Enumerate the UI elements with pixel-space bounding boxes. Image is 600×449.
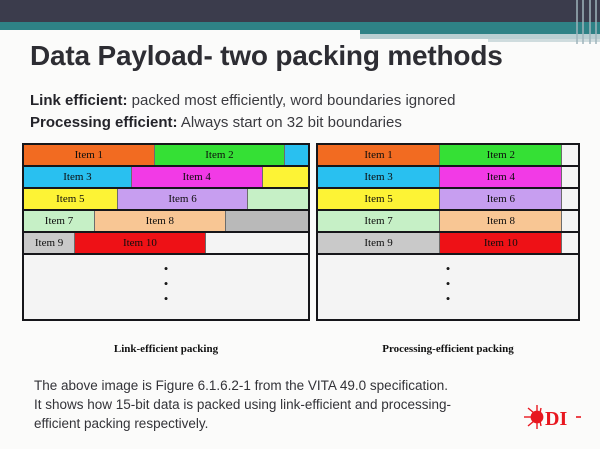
packing-row: Item 5Item 6	[24, 189, 308, 211]
packing-continuation-area: •••	[24, 255, 308, 311]
packing-cell-item-9: Item 9	[318, 233, 440, 253]
vertical-ellipsis: •••	[24, 261, 308, 306]
banner-teal-accent	[360, 26, 600, 34]
di-logo-text: DI	[545, 408, 567, 430]
packing-cell-empty	[263, 167, 308, 187]
packing-cell-item-10: Item 10	[440, 233, 562, 253]
packing-cell-item-7: Item 7	[318, 211, 440, 231]
bullet-link-efficient-text: packed most efficiently, word boundaries…	[128, 92, 456, 109]
packing-cell-item-10: Item 10	[75, 233, 206, 253]
caption-processing-efficient: Processing-efficient packing	[316, 343, 580, 355]
packing-cell-item-8: Item 8	[440, 211, 562, 231]
packing-cell-item-1: Item 1	[24, 145, 155, 165]
note-line-1: The above image is Figure 6.1.6.2-1 from…	[34, 376, 504, 395]
packing-row: Item 3Item 4	[24, 167, 308, 189]
packing-cell-empty	[226, 211, 308, 231]
bullet-processing-efficient-label: Processing efficient:	[30, 114, 178, 131]
packing-cell-item-8: Item 8	[95, 211, 226, 231]
banner-stripe-4	[595, 0, 597, 44]
packing-cell-empty	[562, 167, 578, 187]
packing-cell-item-3: Item 3	[318, 167, 440, 187]
packing-row: Item 5Item 6	[318, 189, 578, 211]
note-line-3: efficient packing respectively.	[34, 414, 504, 433]
slide-title: Data Payload- two packing methods	[30, 40, 570, 72]
packing-cell-item-7: Item 7	[24, 211, 95, 231]
banner-stripe-2	[582, 0, 584, 44]
packing-cell-item-5: Item 5	[318, 189, 440, 209]
caption-link-efficient: Link-efficient packing	[22, 343, 310, 355]
packing-row: Item 1Item 2	[24, 145, 308, 167]
packing-cell-empty	[562, 233, 578, 253]
packing-cell-item-2: Item 2	[155, 145, 286, 165]
packing-cell-empty	[562, 145, 578, 165]
banner-notch	[0, 30, 360, 39]
packing-cell-item-4: Item 4	[132, 167, 263, 187]
banner-stripe-1	[576, 0, 578, 44]
packing-cell-empty	[285, 145, 308, 165]
banner-dark-bar	[0, 0, 600, 22]
diagram-panel-processing-efficient: Item 1Item 2Item 3Item 4Item 5Item 6Item…	[316, 143, 580, 321]
packing-cell-item-1: Item 1	[318, 145, 440, 165]
packing-row: Item 9Item 10	[318, 233, 578, 255]
packing-cell-item-3: Item 3	[24, 167, 132, 187]
packing-cell-item-4: Item 4	[440, 167, 562, 187]
packing-row: Item 7Item 8	[24, 211, 308, 233]
packing-continuation-area: •••	[318, 255, 578, 311]
bullet-link-efficient-label: Link efficient:	[30, 92, 128, 109]
packing-cell-item-2: Item 2	[440, 145, 562, 165]
packing-row: Item 7Item 8	[318, 211, 578, 233]
packing-cell-empty	[206, 233, 308, 253]
packing-cell-item-6: Item 6	[118, 189, 249, 209]
bullet-processing-efficient: Processing efficient: Always start on 32…	[30, 114, 578, 131]
packing-row: Item 1Item 2	[318, 145, 578, 167]
packing-cell-empty	[248, 189, 308, 209]
packing-cell-item-9: Item 9	[24, 233, 75, 253]
packing-cell-item-5: Item 5	[24, 189, 118, 209]
banner-stripe-3	[589, 0, 591, 44]
packing-cell-empty	[562, 189, 578, 209]
packing-cell-item-6: Item 6	[440, 189, 562, 209]
note-line-2: It shows how 15-bit data is packed using…	[34, 395, 504, 414]
bullet-processing-efficient-text: Always start on 32 bit boundaries	[178, 114, 402, 131]
packing-cell-empty	[562, 211, 578, 231]
di-logo-icon: DI	[520, 400, 582, 434]
packing-row: Item 3Item 4	[318, 167, 578, 189]
vertical-ellipsis: •••	[318, 261, 578, 306]
bullet-link-efficient: Link efficient: packed most efficiently,…	[30, 92, 578, 109]
slide-canvas: Data Payload- two packing methods Link e…	[0, 0, 600, 449]
diagram-panel-link-efficient: Item 1Item 2Item 3Item 4Item 5Item 6Item…	[22, 143, 310, 321]
packing-row: Item 9Item 10	[24, 233, 308, 255]
